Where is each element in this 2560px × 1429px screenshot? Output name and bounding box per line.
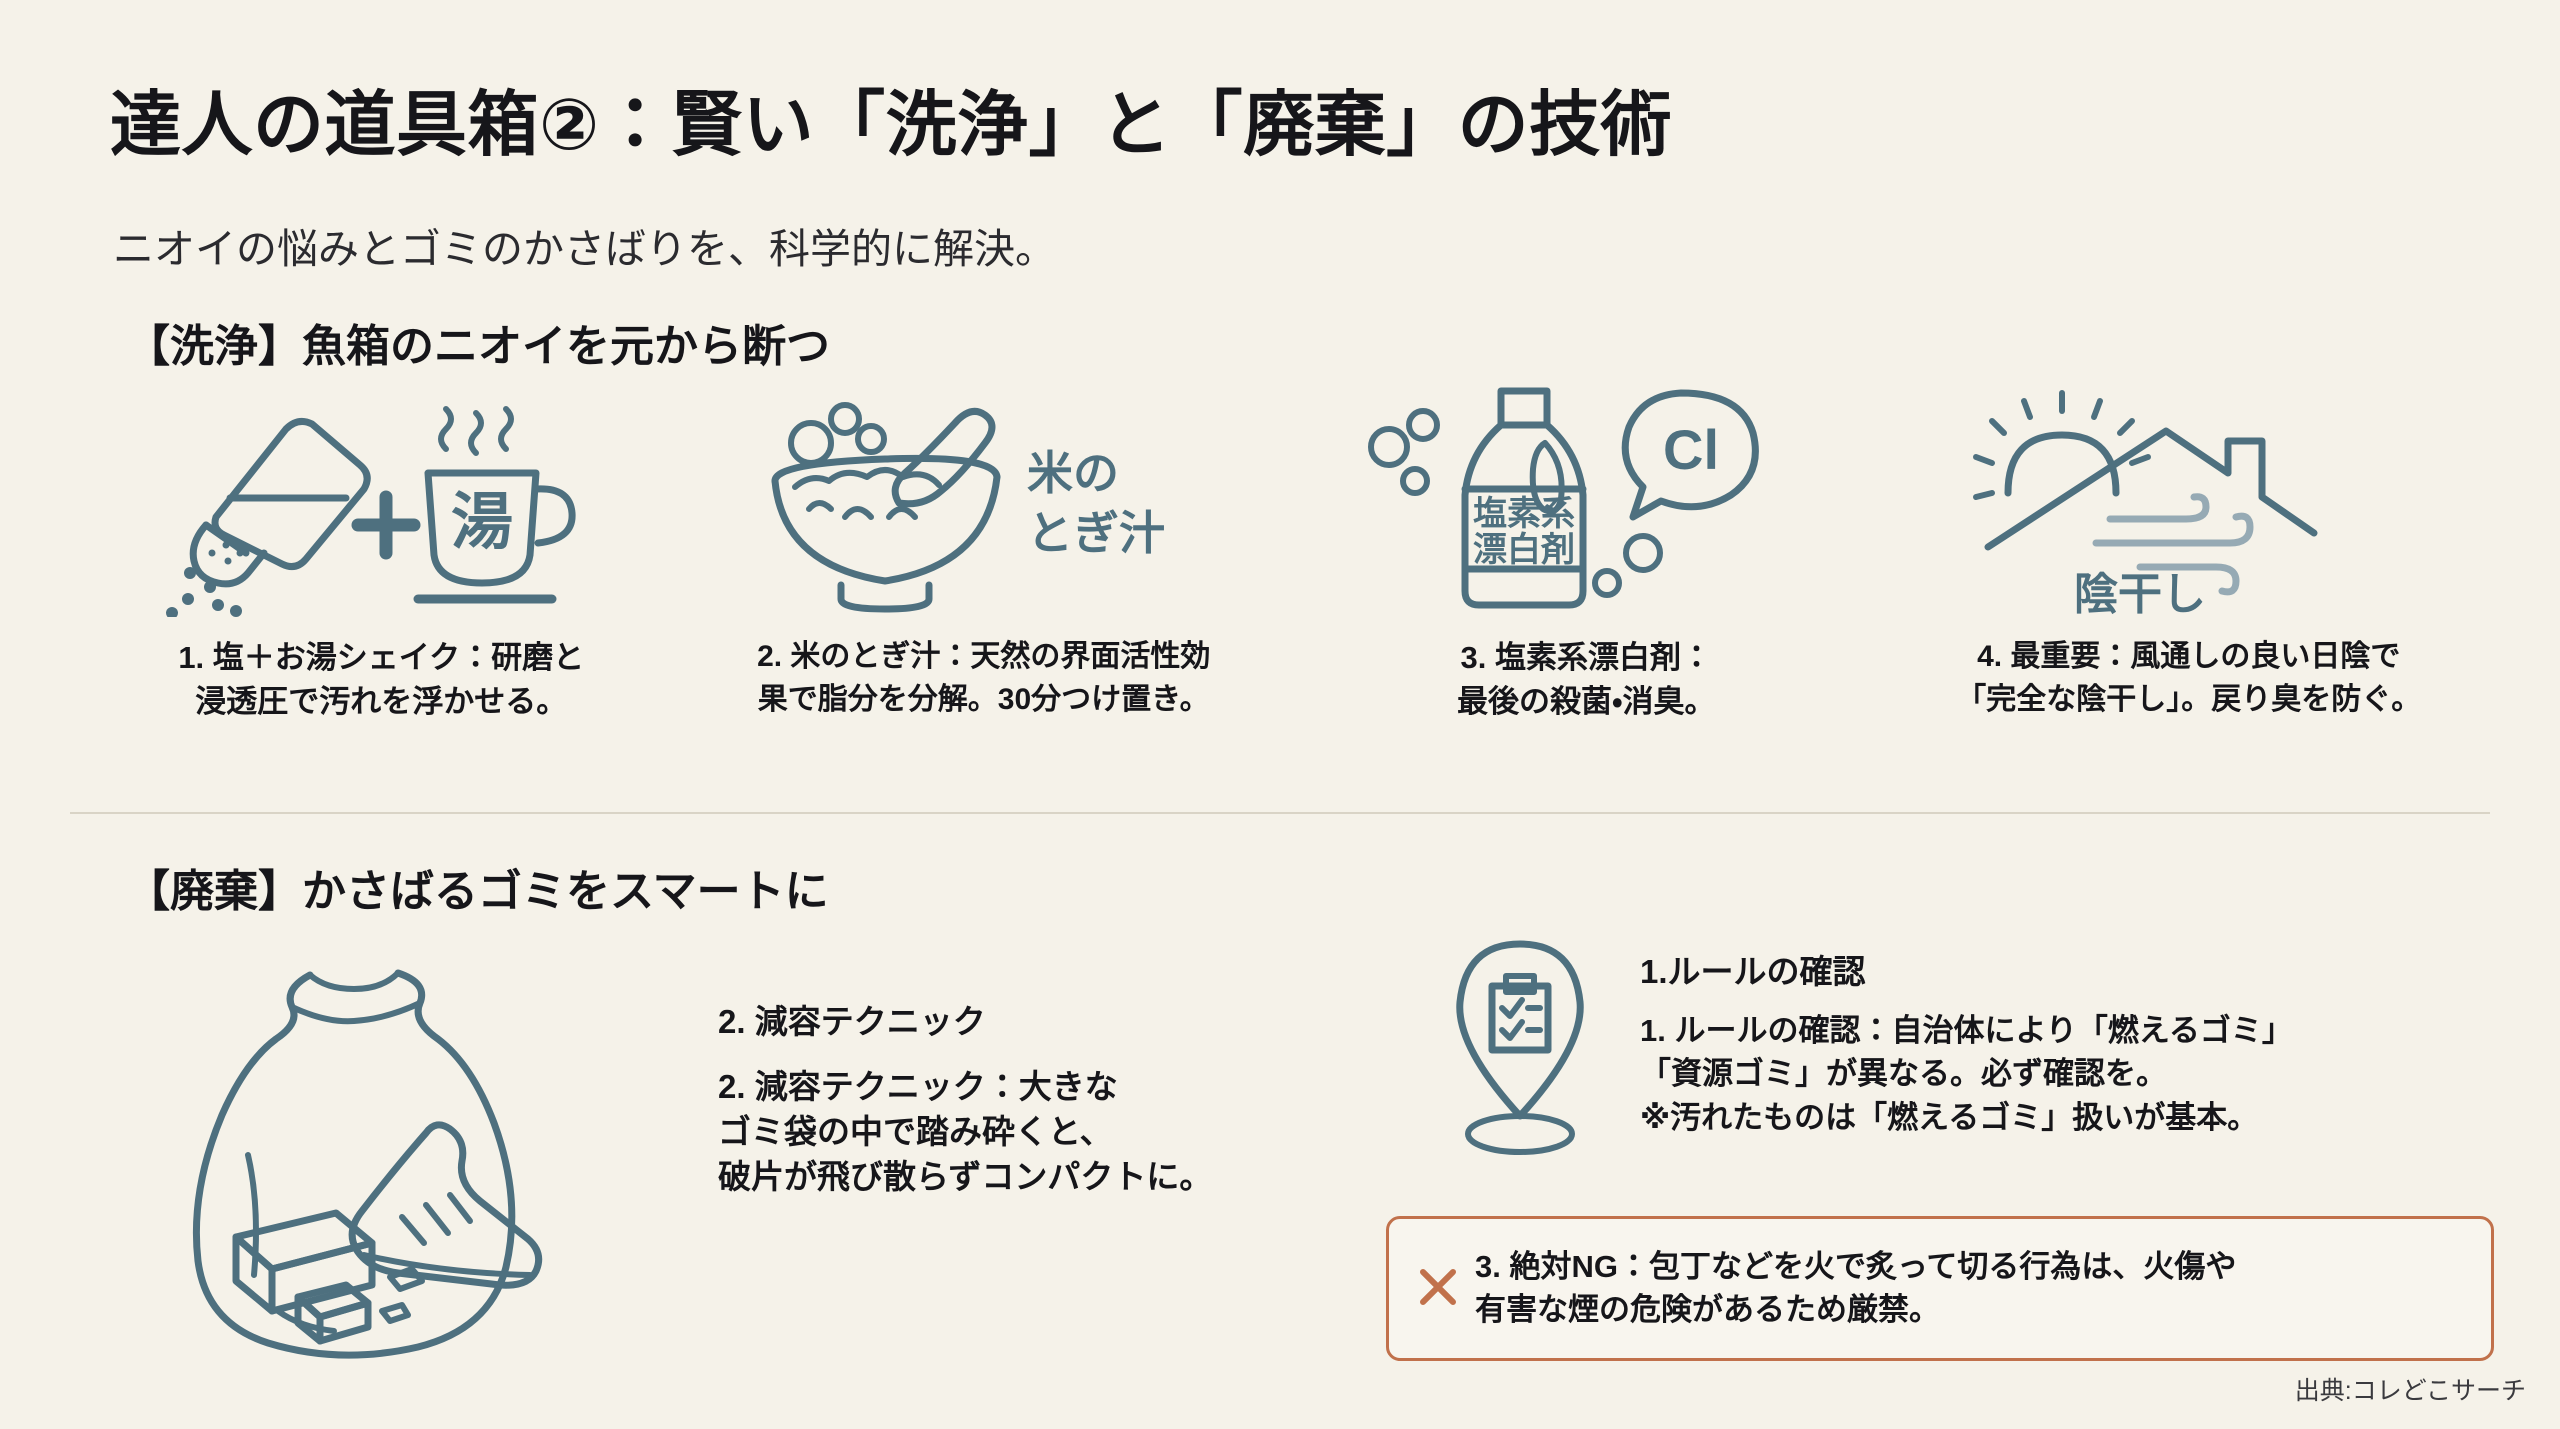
rice-rinse-water-icon: 米の とぎ汁 [749, 372, 1219, 622]
wash-methods-row: 湯 1. 塩＋お湯シェイク：研磨と 浸透圧で汚れを浮かせる。 [80, 372, 2490, 772]
wash-caption-4: 4. 最重要：風通しの良い日陰で 「完全な陰干し」。戻り臭を防ぐ。 [1956, 636, 2421, 721]
warning-text: 3. 絶対NG：包丁などを火で炙って切る行為は、火傷や 有害な煙の危険があるため… [1475, 1246, 2236, 1332]
section-divider [70, 812, 2490, 814]
source-attribution: 出典:コレどこサーチ [2295, 1371, 2526, 1407]
salt-shaker-icon [166, 421, 367, 617]
plus-icon [358, 497, 414, 553]
location-pin-checklist-icon [1430, 930, 1610, 1180]
infographic-page: 達人の道具箱②：賢い「洗浄」と「廃棄」の技術 ニオイの悩みとゴミのかさばりを、科… [0, 0, 2560, 1429]
wash-caption-2: 2. 米のとぎ汁：天然の界面活性効 果で脂分を分解。30分つけ置き。 [757, 636, 1210, 721]
wash-item-salt-hot-water: 湯 1. 塩＋お湯シェイク：研磨と 浸透圧で汚れを浮かせる。 [80, 372, 683, 724]
chlorine-bleach-bottle-icon: 塩素系 漂白剤 Cl [1351, 372, 1821, 622]
hot-water-cup-icon: 湯 [418, 409, 572, 599]
hot-water-glyph: 湯 [451, 488, 513, 557]
wash-item-bleach: 塩素系 漂白剤 Cl 3. 塩素系漂白剤： 最後の殺菌・消臭。 [1285, 372, 1888, 724]
chlorine-symbol: Cl [1663, 418, 1719, 481]
page-subtitle: ニオイの悩みとゴミのかさばりを、科学的に解決。 [113, 215, 1056, 275]
rule-check-body: 1. ルールの確認：自治体により「燃えるゴミ」 「資源ゴミ」が異なる。必ず確認を… [1640, 1009, 2520, 1139]
rule-check-title: 1.ルールの確認 [1640, 945, 2520, 993]
house-roof-icon [1988, 431, 2314, 547]
chlorine-speech-bubble-icon: Cl [1625, 393, 1755, 517]
shade-drying-label: 陰干し [2074, 570, 2206, 617]
warning-box: 3. 絶対NG：包丁などを火で炙って切る行為は、火傷や 有害な煙の危険があるため… [1386, 1216, 2494, 1361]
rule-check-block: 1.ルールの確認 1. ルールの確認：自治体により「燃えるゴミ」 「資源ゴミ」が… [1640, 945, 2520, 1139]
bleach-bottle-icon: 塩素系 漂白剤 [1371, 391, 1583, 605]
reduce-volume-title: 2. 減容テクニック [718, 995, 1358, 1043]
section-heading-waste: 【廃棄】かさばるゴミをスマートに [126, 855, 829, 919]
rice-water-label-line2: とぎ汁 [1027, 507, 1165, 559]
section-heading-wash: 【洗浄】魚箱のニオイを元から断つ [126, 310, 830, 374]
sun-icon [1976, 393, 2148, 497]
reduce-volume-block: 2. 減容テクニック 2. 減容テクニック：大きな ゴミ袋の中で踏み砕くと、 破… [718, 995, 1358, 1200]
trash-bag-stomp-icon [150, 955, 620, 1375]
crushed-foam-box-icon [236, 1213, 422, 1341]
page-title: 達人の道具箱②：賢い「洗浄」と「廃棄」の技術 [110, 68, 1672, 170]
wash-item-rice-water: 米の とぎ汁 2. 米のとぎ汁：天然の界面活性効 果で脂分を分解。30分つけ置き… [683, 372, 1286, 721]
salt-plus-hot-water-icon: 湯 [146, 372, 616, 622]
rice-water-label-line1: 米の [1027, 447, 1119, 499]
wash-caption-3: 3. 塩素系漂白剤： 最後の殺菌・消臭。 [1457, 636, 1716, 724]
bleach-label-line2: 漂白剤 [1473, 531, 1575, 569]
wash-caption-1: 1. 塩＋お湯シェイク：研磨と 浸透圧で汚れを浮かせる。 [178, 636, 584, 724]
bleach-label-line1: 塩素系 [1473, 495, 1575, 533]
shade-drying-icon: 陰干し [1954, 372, 2424, 622]
rice-bowl-icon [775, 405, 997, 609]
wash-item-shade-drying: 陰干し 4. 最重要：風通しの良い日陰で 「完全な陰干し」。戻り臭を防ぐ。 [1888, 372, 2491, 721]
reduce-volume-body: 2. 減容テクニック：大きな ゴミ袋の中で踏み砕くと、 破片が飛び散らずコンパク… [718, 1065, 1358, 1200]
x-mark-icon [1415, 1264, 1461, 1310]
